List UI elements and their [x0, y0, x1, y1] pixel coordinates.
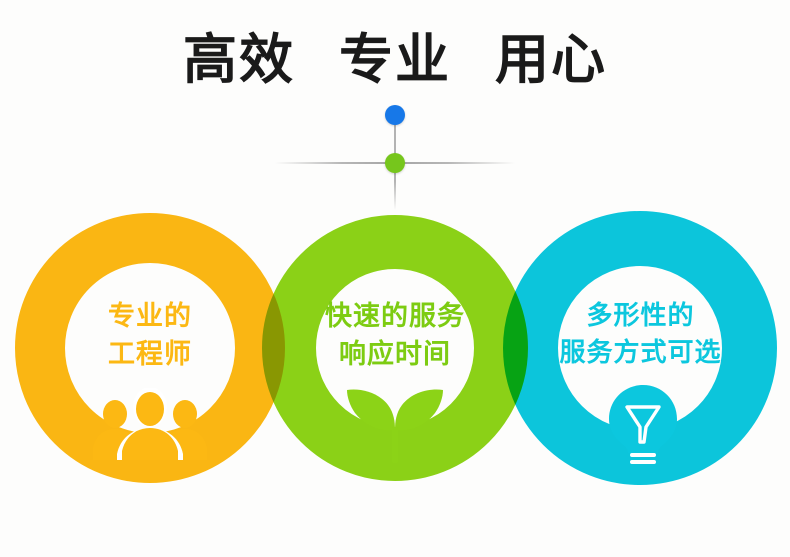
circle-content-response: 快速的服务 响应时间 [295, 298, 495, 375]
circle-label-response: 快速的服务 响应时间 [295, 298, 495, 375]
circle-content-engineers: 专业的 工程师 [50, 298, 250, 375]
venn-rings [0, 0, 790, 557]
people-group-icon [92, 388, 208, 464]
circle-label-service-modes: 多形性的 服务方式可选 [533, 298, 748, 372]
sprout-plant-icon [338, 383, 452, 467]
circle-content-service-modes: 多形性的 服务方式可选 [533, 298, 748, 372]
lightbulb-icon [600, 383, 686, 469]
circle-label-engineers: 专业的 工程师 [50, 298, 250, 375]
infographic-canvas: 高效专业用心 专业的 工程师 快速的服务 响应时间 多形性的 服务方式可选 [0, 0, 790, 557]
